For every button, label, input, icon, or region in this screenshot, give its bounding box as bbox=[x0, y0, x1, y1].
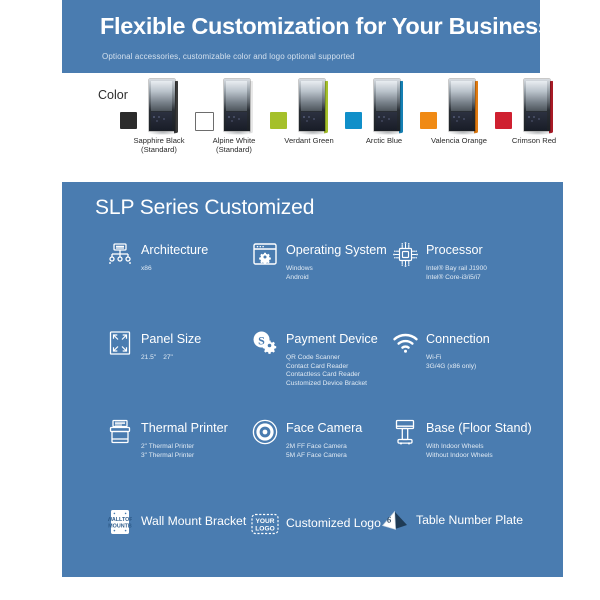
feature-detail-list: x86 bbox=[141, 265, 152, 274]
feature-title: Customized Logo bbox=[286, 516, 381, 530]
svg-text:MOUNTB: MOUNTB bbox=[108, 524, 132, 530]
color-chip[interactable] bbox=[195, 112, 214, 131]
color-swatch-item[interactable]: Alpine White(Standard) bbox=[195, 73, 273, 182]
feature-detail-item: Android bbox=[286, 274, 313, 283]
expand-frame-icon bbox=[105, 328, 135, 358]
number-plate-icon: 6 bbox=[380, 506, 410, 536]
feature-detail-item: With Indoor Wheels bbox=[426, 443, 493, 452]
color-swatch-item[interactable]: Crimson Red bbox=[495, 73, 573, 182]
color-chip[interactable] bbox=[345, 112, 362, 129]
svg-text:WALLTOP: WALLTOP bbox=[108, 517, 132, 523]
color-swatch-label: Crimson Red bbox=[495, 136, 573, 145]
feature-detail-item: 2" Thermal Printer bbox=[141, 443, 194, 452]
feature-detail-list: 2" Thermal Printer3" Thermal Printer bbox=[141, 443, 194, 460]
feature-detail-item: 2M FF Face Camera bbox=[286, 443, 347, 452]
feature-title: Wall Mount Bracket bbox=[141, 514, 246, 528]
color-swatch-item[interactable]: Verdant Green bbox=[270, 73, 348, 182]
feature-detail-list: 2M FF Face Camera5M AF Face Camera bbox=[286, 443, 347, 460]
svg-text:S: S bbox=[258, 333, 265, 347]
feature-detail-item: Contact Card Reader bbox=[286, 363, 367, 372]
color-swatch-label: Arctic Blue bbox=[345, 136, 423, 145]
floor-stand-icon bbox=[390, 417, 420, 447]
feature-title: Architecture bbox=[141, 243, 208, 257]
color-chip[interactable] bbox=[270, 112, 287, 129]
page-root: Flexible Customization for Your Business… bbox=[0, 0, 600, 600]
spec-panel: SLP Series Customized Architecturex86Ope… bbox=[62, 182, 563, 577]
feature-detail-list: Wi-Fi3G/4G (x86 only) bbox=[426, 354, 476, 371]
feature-detail-list: WindowsAndroid bbox=[286, 265, 313, 282]
color-chip[interactable] bbox=[495, 112, 512, 129]
feature-title: Payment Device bbox=[286, 332, 378, 346]
svg-text:YOUR: YOUR bbox=[255, 518, 274, 525]
kiosk-device-image bbox=[221, 79, 255, 135]
color-chip[interactable] bbox=[120, 112, 137, 129]
color-swatch-item[interactable]: Valencia Orange bbox=[420, 73, 498, 182]
feature-detail-item: 3" Thermal Printer bbox=[141, 452, 194, 461]
kiosk-device-image bbox=[296, 79, 330, 135]
feature-detail-item: Intel® Bay rail J1900 bbox=[426, 265, 487, 274]
kiosk-device-image bbox=[146, 79, 180, 135]
coin-gear-icon: S bbox=[250, 328, 280, 358]
color-section: Color Sapphire Black(Standard)Alpine Whi… bbox=[0, 73, 600, 182]
feature-title: Table Number Plate bbox=[416, 513, 523, 527]
color-swatch-label: Verdant Green bbox=[270, 136, 348, 145]
color-swatch-label: Sapphire Black(Standard) bbox=[120, 136, 198, 155]
sitemap-icon bbox=[105, 239, 135, 269]
feature-title: Face Camera bbox=[286, 421, 362, 435]
feature-title: Base (Floor Stand) bbox=[426, 421, 532, 435]
feature-title: Panel Size bbox=[141, 332, 201, 346]
feature-detail-item: Windows bbox=[286, 265, 313, 274]
wall-mount-icon: WALLTOPMOUNTB bbox=[105, 507, 135, 537]
spec-panel-title: SLP Series Customized bbox=[95, 196, 314, 220]
page-subtitle: Optional accessories, customizable color… bbox=[102, 52, 355, 61]
kiosk-device-image bbox=[521, 79, 555, 135]
color-swatch-row: Sapphire Black(Standard)Alpine White(Sta… bbox=[120, 73, 590, 182]
page-title: Flexible Customization for Your Business bbox=[100, 13, 551, 40]
feature-title: Processor bbox=[426, 243, 483, 257]
feature-detail-item: 5M AF Face Camera bbox=[286, 452, 347, 461]
kiosk-device-image bbox=[371, 79, 405, 135]
feature-detail-item: 27" bbox=[163, 354, 173, 361]
svg-text:LOGO: LOGO bbox=[255, 525, 274, 532]
kiosk-device-image bbox=[446, 79, 480, 135]
feature-detail-item: x86 bbox=[141, 265, 152, 274]
color-swatch-label: Valencia Orange bbox=[420, 136, 498, 145]
feature-detail-item: Contactless Card Reader bbox=[286, 371, 367, 380]
feature-detail-item: 3G/4G (x86 only) bbox=[426, 363, 476, 372]
feature-detail-item: Without Indoor Wheels bbox=[426, 452, 493, 461]
feature-detail-item: Intel® Core-i3/i5/i7 bbox=[426, 274, 487, 283]
printer-icon bbox=[105, 417, 135, 447]
feature-title: Connection bbox=[426, 332, 490, 346]
your-logo-icon: YOURLOGO bbox=[250, 509, 280, 539]
feature-detail-list: 21.5"27" bbox=[141, 354, 180, 363]
color-chip[interactable] bbox=[420, 112, 437, 129]
color-swatch-item[interactable]: Arctic Blue bbox=[345, 73, 423, 182]
header-banner: Flexible Customization for Your Business… bbox=[62, 0, 540, 73]
feature-detail-item: Wi-Fi bbox=[426, 354, 476, 363]
feature-detail-item: QR Code Scanner bbox=[286, 354, 367, 363]
feature-title: Operating System bbox=[286, 243, 387, 257]
camera-lens-icon bbox=[250, 417, 280, 447]
wifi-icon bbox=[390, 328, 420, 358]
feature-detail-item: 21.5" bbox=[141, 354, 156, 361]
feature-detail-list: Intel® Bay rail J1900Intel® Core-i3/i5/i… bbox=[426, 265, 487, 282]
cpu-chip-icon bbox=[390, 239, 420, 269]
feature-title: Thermal Printer bbox=[141, 421, 228, 435]
window-gear-icon bbox=[250, 239, 280, 269]
color-swatch-item[interactable]: Sapphire Black(Standard) bbox=[120, 73, 198, 182]
feature-detail-list: QR Code ScannerContact Card ReaderContac… bbox=[286, 354, 367, 388]
color-swatch-label: Alpine White(Standard) bbox=[195, 136, 273, 155]
feature-detail-item: Customized Device Bracket bbox=[286, 380, 367, 389]
feature-detail-list: With Indoor WheelsWithout Indoor Wheels bbox=[426, 443, 493, 460]
